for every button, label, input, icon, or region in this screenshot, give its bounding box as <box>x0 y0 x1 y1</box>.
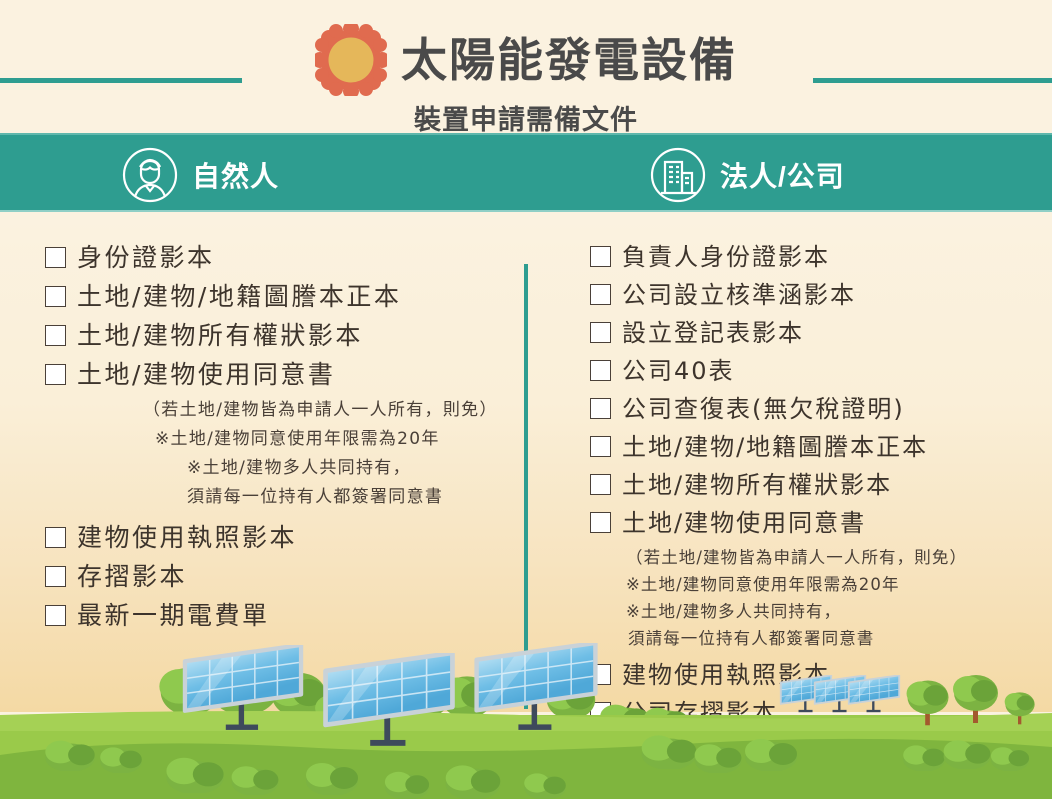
list-item[interactable]: 負責人身份證影本 <box>590 240 1045 275</box>
checkbox[interactable] <box>590 398 611 419</box>
note-line: ※土地/建物同意使用年限需為20年 <box>626 571 1045 598</box>
list-item-label: 土地/建物/地籍圖謄本正本 <box>622 430 928 465</box>
category-label-legal-entity: 法人/公司 <box>720 155 845 195</box>
page-subtitle: 裝置申請需備文件 <box>0 98 1052 137</box>
list-item[interactable]: 土地/建物使用同意書 <box>590 506 1045 541</box>
title-wrap: 太陽能發電設備 <box>0 24 1052 101</box>
list-item-label: 設立登記表影本 <box>622 316 804 351</box>
poster: 太陽能發電設備 裝置申請需備文件 自然人 <box>0 0 1052 799</box>
list-item-label: 身份證影本 <box>77 240 215 276</box>
note-line: ※土地/建物多人共同持有， <box>187 454 515 483</box>
checkbox[interactable] <box>590 246 611 267</box>
note-line: 須請每一位持有人都簽署同意書 <box>187 483 515 512</box>
list-item-label: 公司查復表(無欠稅證明) <box>622 392 905 427</box>
checkbox[interactable] <box>590 284 611 305</box>
sun-icon <box>315 24 387 96</box>
list-item-label: 公司40表 <box>622 354 735 389</box>
list-item-label: 土地/建物所有權狀影本 <box>77 318 363 354</box>
checkbox[interactable] <box>45 566 66 587</box>
list-item[interactable]: 建物使用執照影本 <box>45 520 515 556</box>
checkbox[interactable] <box>45 527 66 548</box>
list-item[interactable]: 存摺影本 <box>45 559 515 595</box>
note-line: （若土地/建物皆為申請人一人所有，則免） <box>143 396 515 425</box>
list-item[interactable]: 公司設立核準涵影本 <box>590 278 1045 313</box>
solar-farm-illustration <box>0 619 1052 799</box>
list-item[interactable]: 土地/建物所有權狀影本 <box>590 468 1045 503</box>
list-item[interactable]: 身份證影本 <box>45 240 515 276</box>
list-item-label: 土地/建物所有權狀影本 <box>622 468 892 503</box>
checkbox[interactable] <box>590 512 611 533</box>
checkbox[interactable] <box>590 436 611 457</box>
list-item[interactable]: 土地/建物使用同意書 <box>45 357 515 393</box>
list-item-label: 公司設立核準涵影本 <box>622 278 856 313</box>
checkbox[interactable] <box>45 286 66 307</box>
person-icon <box>122 147 178 203</box>
note-line: （若土地/建物皆為申請人一人所有，則免） <box>626 544 1045 571</box>
list-item-label: 存摺影本 <box>77 559 187 595</box>
category-header-natural-person: 自然人 <box>122 135 279 214</box>
list-item[interactable]: 公司40表 <box>590 354 1045 389</box>
checkbox[interactable] <box>45 325 66 346</box>
checkbox[interactable] <box>590 360 611 381</box>
header: 太陽能發電設備 裝置申請需備文件 <box>0 0 1052 133</box>
checkbox[interactable] <box>590 474 611 495</box>
list-item-label: 建物使用執照影本 <box>77 520 297 556</box>
list-item[interactable]: 土地/建物/地籍圖謄本正本 <box>45 279 515 315</box>
category-label-natural-person: 自然人 <box>192 155 279 195</box>
list-item-notes: （若土地/建物皆為申請人一人所有，則免） ※土地/建物同意使用年限需為20年 ※… <box>131 396 515 512</box>
category-band: 自然人 法人/公司 <box>0 133 1052 212</box>
checkbox[interactable] <box>45 364 66 385</box>
category-header-legal-entity: 法人/公司 <box>650 135 845 214</box>
list-item-label: 土地/建物使用同意書 <box>622 506 866 541</box>
list-item[interactable]: 公司查復表(無欠稅證明) <box>590 392 1045 427</box>
list-item[interactable]: 土地/建物/地籍圖謄本正本 <box>590 430 1045 465</box>
list-item[interactable]: 土地/建物所有權狀影本 <box>45 318 515 354</box>
checkbox[interactable] <box>45 247 66 268</box>
building-icon <box>650 147 706 203</box>
page-title: 太陽能發電設備 <box>401 37 737 83</box>
checklist-natural-person: 身份證影本 土地/建物/地籍圖謄本正本 土地/建物所有權狀影本 土地/建物使用同… <box>45 240 515 637</box>
note-line: ※土地/建物同意使用年限需為20年 <box>155 425 515 454</box>
list-item-label: 負責人身份證影本 <box>622 240 830 275</box>
list-item[interactable]: 設立登記表影本 <box>590 316 1045 351</box>
list-item-label: 土地/建物/地籍圖謄本正本 <box>77 279 401 315</box>
checkbox[interactable] <box>590 322 611 343</box>
list-item-label: 土地/建物使用同意書 <box>77 357 335 393</box>
